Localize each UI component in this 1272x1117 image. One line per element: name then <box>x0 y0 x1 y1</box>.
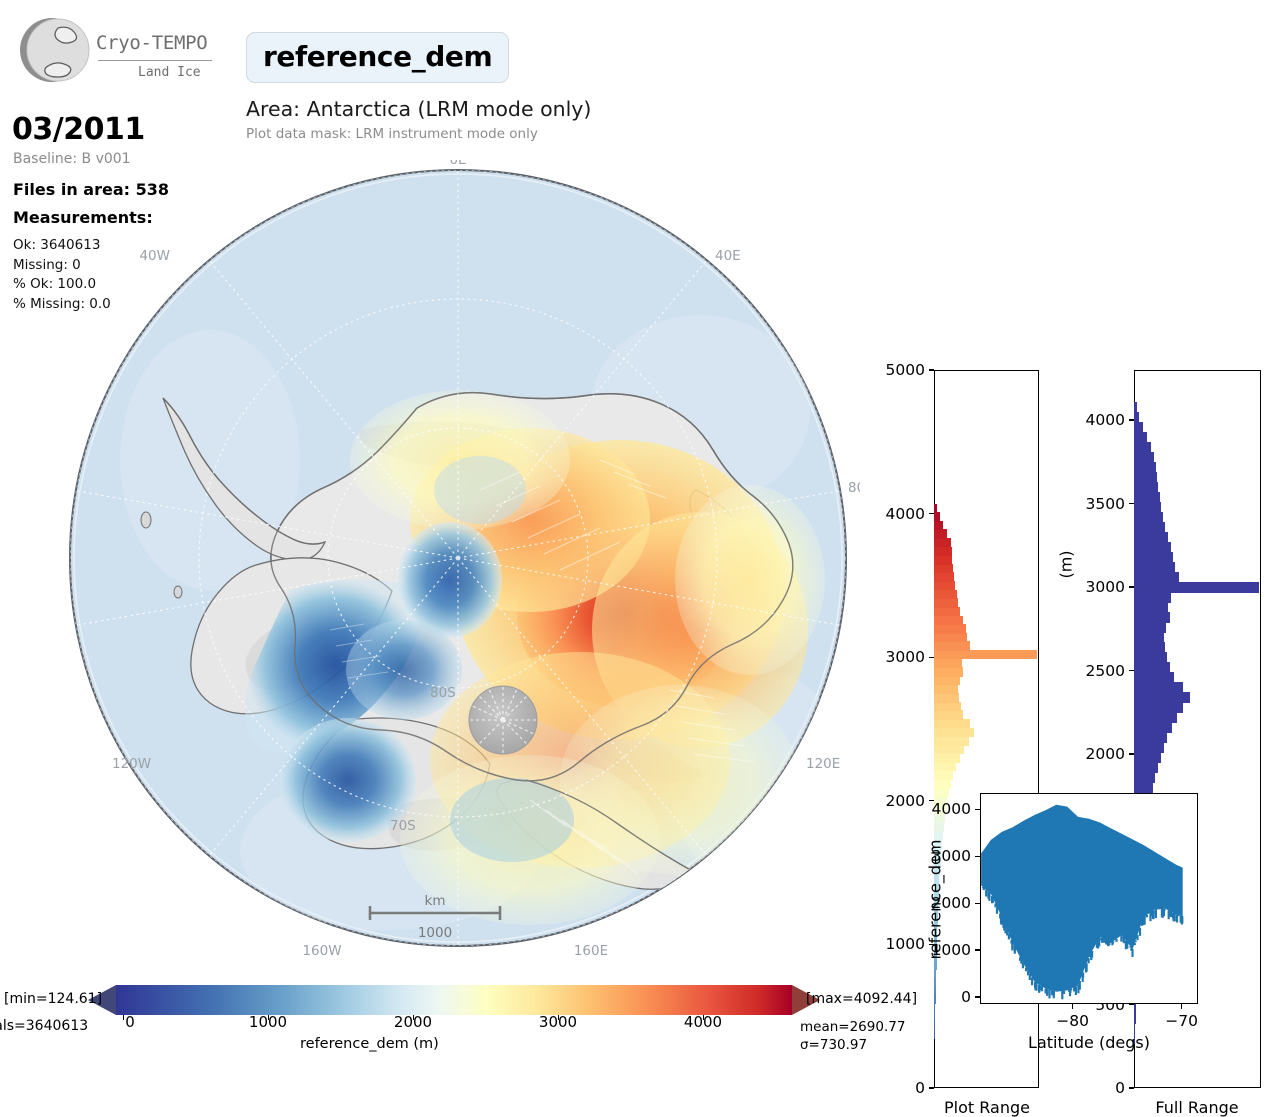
histogram-bar <box>1134 492 1160 503</box>
globe-icon <box>18 14 90 86</box>
histogram-bar <box>1134 732 1167 743</box>
colorbar-tick-label: 4000 <box>684 1013 722 1031</box>
histogram-bar <box>1134 652 1167 663</box>
area-title: Area: Antarctica (LRM mode only) <box>246 97 591 121</box>
full-range-y-axis-label: (m) <box>1057 550 1076 578</box>
histogram-bar <box>1134 602 1168 613</box>
colorbar-gradient[interactable] <box>116 985 792 1015</box>
histogram-bar <box>1134 532 1168 543</box>
full-range-axis-label: Full Range <box>1155 1098 1238 1117</box>
lon-label-0e: 0E <box>449 160 466 168</box>
histogram-bar <box>934 710 963 719</box>
colorbar-sigma-label: σ=730.97 <box>800 1037 867 1053</box>
histogram-bar <box>934 676 960 685</box>
full-range-histogram-panel[interactable]: 05001000150020002500300035004000 (m) Ful… <box>1055 360 1267 770</box>
histogram-bar <box>934 616 963 625</box>
lon-label-160w: 160W <box>302 943 341 959</box>
y-tick-label: 5000 <box>860 361 925 379</box>
plot-range-axis-label: Plot Range <box>944 1098 1030 1117</box>
pole-hole <box>469 686 537 754</box>
colorbar-nvals-label: vals=3640613 <box>0 1018 88 1034</box>
histogram-bar <box>1134 422 1143 433</box>
histogram-bar <box>934 607 960 616</box>
histogram-bar <box>934 762 956 771</box>
cryo-tempo-logo: Cryo-TEMPO Land Ice <box>14 10 214 90</box>
histogram-bar <box>934 590 957 599</box>
histogram-bar <box>934 538 951 547</box>
antarctica-polar-map[interactable]: 0E 40E 80E 120E 160E 160W 120W 80W 40W 8… <box>60 160 860 960</box>
histogram-bar <box>1134 742 1164 753</box>
y-tick-label: 0 <box>1055 1079 1125 1097</box>
lon-label-40w: 40W <box>139 248 170 264</box>
lon-label-80w: 80W <box>60 480 61 496</box>
latitude-scatter-panel[interactable]: 01000200030004000−80−70 reference_dem La… <box>880 780 1272 1060</box>
histogram-bar <box>934 555 952 564</box>
colorbar-min-label: [min=124.61] <box>4 991 102 1007</box>
colorbar-title: reference_dem (m) <box>300 1036 439 1052</box>
histogram-bar <box>1134 672 1174 683</box>
y-tick-label: 0 <box>860 1079 925 1097</box>
histogram-bar <box>1134 722 1172 733</box>
lon-label-80e: 80E <box>848 480 860 496</box>
scatter-point-cloud <box>981 805 1183 992</box>
plot-range-histogram-panel[interactable]: 010002000300040005000 Plot Range <box>860 360 1060 770</box>
histogram-bar <box>934 667 963 676</box>
scalebar-value: 1000 <box>418 925 452 941</box>
logo-subtitle: Land Ice <box>138 65 201 80</box>
histogram-bar <box>934 650 1037 659</box>
histogram-bar <box>1134 702 1183 713</box>
histogram-bar <box>934 547 952 556</box>
histogram-bar <box>1134 472 1157 483</box>
histogram-bar <box>934 684 958 693</box>
y-tick-label: 3000 <box>1055 578 1125 596</box>
histogram-bar <box>1134 692 1190 703</box>
lat-label-70s: 70S <box>390 818 416 834</box>
histogram-bar <box>1134 762 1158 773</box>
histogram-bar <box>934 745 964 754</box>
x-tick-label: −80 <box>1056 1012 1089 1030</box>
histogram-bar <box>1134 512 1163 523</box>
y-tick-label: 0 <box>880 988 971 1006</box>
histogram-bar <box>934 633 967 642</box>
histogram-bar <box>934 521 943 530</box>
histogram-bar <box>1134 542 1171 553</box>
lon-label-160e: 160E <box>574 943 608 959</box>
histogram-bar <box>934 529 947 538</box>
histogram-bar <box>934 753 960 762</box>
scatter-x-axis-label: Latitude (degs) <box>1028 1033 1150 1052</box>
histogram-bar <box>1134 432 1147 443</box>
histogram-bar <box>1134 412 1139 423</box>
lon-label-40e: 40E <box>715 248 741 264</box>
x-tick-label: −70 <box>1165 1012 1198 1030</box>
histogram-bar <box>934 598 958 607</box>
colorbar-tick-label: 2000 <box>394 1013 432 1031</box>
x-tick <box>1072 1004 1073 1009</box>
histogram-bar <box>934 581 955 590</box>
histogram-bar <box>1134 642 1165 653</box>
scalebar-unit: km <box>425 893 446 909</box>
colorbar-tick-label: 1000 <box>249 1013 287 1031</box>
month-label: 03/2011 <box>12 112 145 147</box>
histogram-bar <box>934 693 959 702</box>
histogram-bar <box>1134 622 1166 633</box>
scatter-y-axis-label: reference_dem <box>925 840 944 960</box>
histogram-bar <box>1134 592 1171 603</box>
histogram-bar <box>1134 582 1259 593</box>
y-tick-label: 4000 <box>880 800 971 818</box>
y-tick-label: 4000 <box>860 505 925 523</box>
y-tick-label: 3000 <box>860 648 925 666</box>
histogram-bar <box>1134 452 1154 463</box>
histogram-bar <box>1134 442 1151 453</box>
histogram-bar <box>934 512 940 521</box>
histogram-bar <box>1134 682 1183 693</box>
histogram-bar <box>934 736 969 745</box>
histogram-bar <box>934 624 966 633</box>
histogram-bar <box>934 564 953 573</box>
histogram-bar <box>1134 562 1175 573</box>
histogram-bar <box>934 728 974 737</box>
histogram-bar <box>934 504 937 513</box>
histogram-bar <box>934 572 954 581</box>
histogram-bar <box>934 641 970 650</box>
histogram-bar <box>1134 402 1137 413</box>
y-tick-label: 3500 <box>1055 495 1125 513</box>
histogram-bar <box>1134 752 1161 763</box>
colorbar-tick <box>123 1015 124 1020</box>
histogram-bar <box>934 771 953 780</box>
logo-divider <box>98 60 212 61</box>
y-tick-label: 4000 <box>1055 411 1125 429</box>
colorbar-tick-label: 0 <box>125 1013 135 1031</box>
histogram-bar <box>1134 552 1173 563</box>
histogram-bar <box>1134 572 1179 583</box>
histogram-bar <box>1134 502 1161 513</box>
y-tick-label: 2500 <box>1055 662 1125 680</box>
histogram-bar <box>934 702 961 711</box>
y-tick-label: 2000 <box>1055 745 1125 763</box>
lon-label-120w: 120W <box>112 756 151 772</box>
histogram-bar <box>1134 632 1164 643</box>
histogram-bar <box>934 719 970 728</box>
histogram-bar <box>1134 522 1165 533</box>
colorbar-group[interactable]: 0 1000 2000 3000 4000 reference_dem (m) … <box>0 975 920 1060</box>
histogram-bar <box>1134 712 1177 723</box>
lat-label-80s: 80S <box>430 685 456 701</box>
colorbar-tick-label: 3000 <box>539 1013 577 1031</box>
histogram-bar <box>1134 482 1158 493</box>
parameter-badge[interactable]: reference_dem <box>246 32 509 83</box>
plot-mask-subtitle: Plot data mask: LRM instrument mode only <box>246 126 538 142</box>
histogram-bar <box>934 659 962 668</box>
x-tick <box>1181 1004 1182 1009</box>
histogram-bar <box>1134 462 1156 473</box>
histogram-bar <box>1134 662 1170 673</box>
lon-label-120e: 120E <box>806 756 840 772</box>
logo-wordmark: Cryo-TEMPO <box>96 32 207 54</box>
histogram-bar <box>1134 612 1170 623</box>
